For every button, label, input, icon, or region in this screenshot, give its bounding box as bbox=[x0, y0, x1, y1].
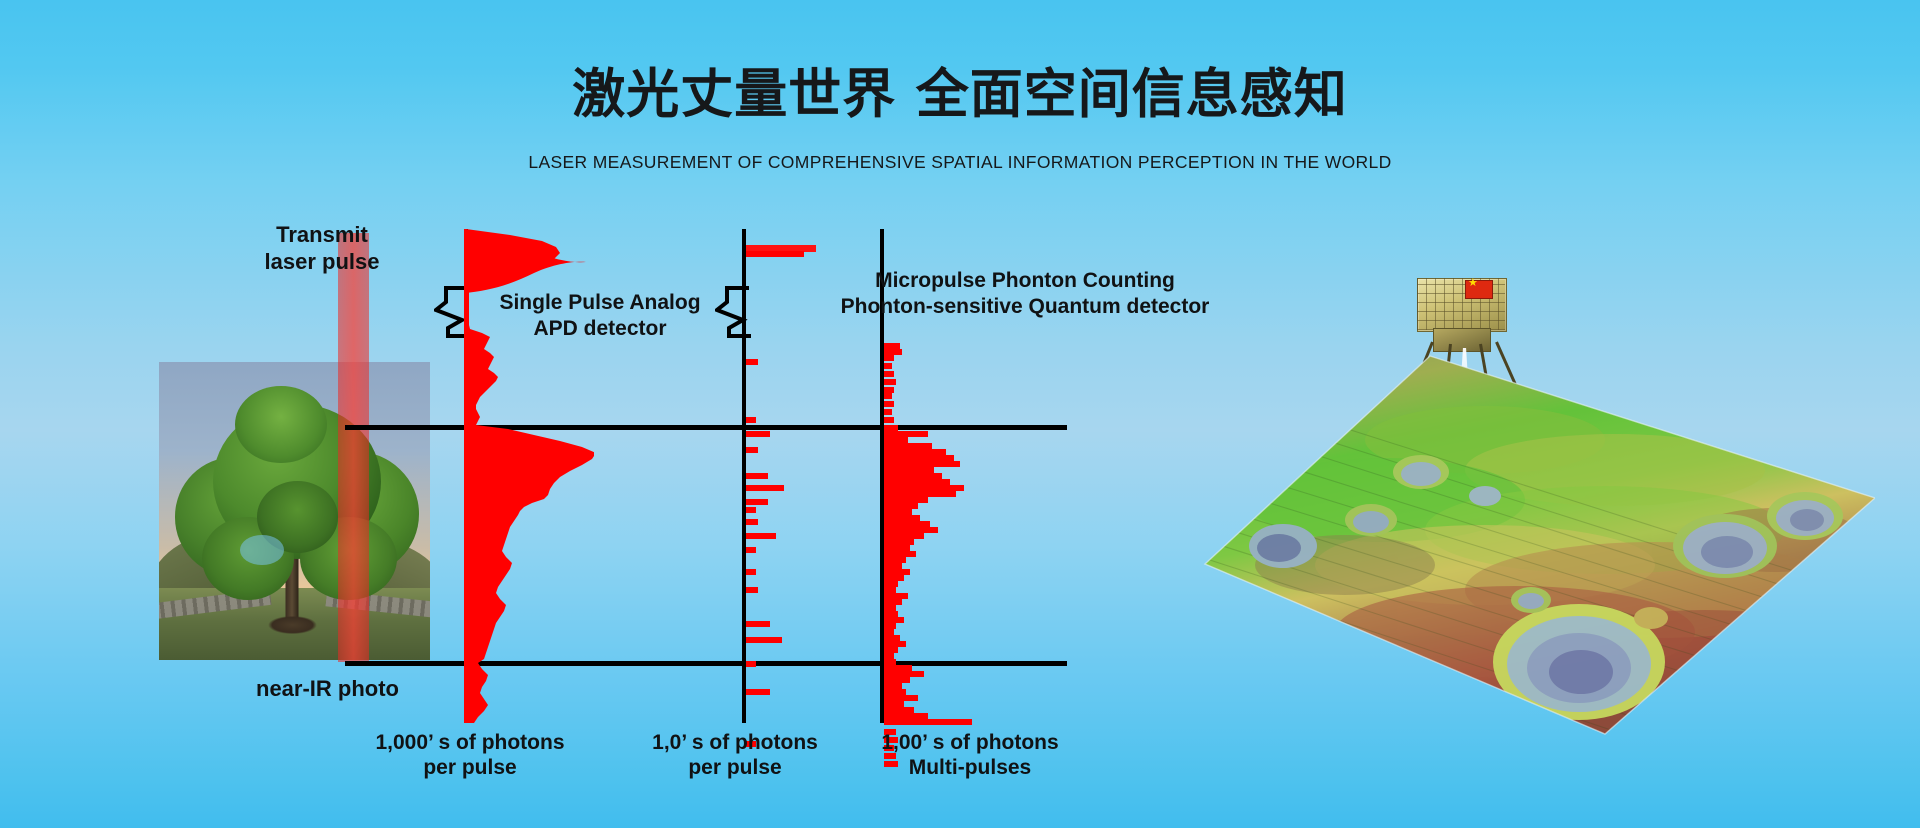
photon-return-bar bbox=[746, 637, 782, 643]
photon-return-bar bbox=[884, 355, 894, 361]
laser-beam-band bbox=[338, 233, 369, 662]
photo-sky-gap bbox=[240, 535, 283, 565]
crater bbox=[1469, 486, 1501, 506]
photon-return-bar bbox=[746, 417, 756, 423]
colorized-dem-surface bbox=[1185, 350, 1875, 740]
photon-return-bar bbox=[884, 393, 892, 399]
crater bbox=[1673, 514, 1777, 578]
caption-photons-micropulse: 1,00’ s of photons Multi-pulses bbox=[850, 730, 1090, 780]
photon-return-bar bbox=[746, 507, 756, 513]
near-ir-photo bbox=[159, 362, 430, 660]
caption3-line2: Multi-pulses bbox=[850, 755, 1090, 780]
caption-photons-single: 1,0’ s of photons per pulse bbox=[620, 730, 850, 780]
photon-return-bar bbox=[884, 363, 892, 369]
label-single-line2: APD detector bbox=[430, 316, 770, 342]
label-transmit-line1: Transmit bbox=[222, 222, 422, 249]
page-title: 激光丈量世界 全面空间信息感知 bbox=[0, 52, 1920, 128]
photon-return-bar bbox=[746, 359, 758, 365]
caption2-line1: 1,0’ s of photons bbox=[620, 730, 850, 755]
caption2-line2: per pulse bbox=[620, 755, 850, 780]
photo-tree-canopy bbox=[235, 386, 327, 463]
photon-return-bar bbox=[746, 533, 776, 539]
crater bbox=[1249, 524, 1317, 568]
photon-return-bar bbox=[884, 417, 894, 423]
label-single-line1: Single Pulse Analog bbox=[430, 290, 770, 316]
label-near-ir-photo: near-IR photo bbox=[215, 676, 440, 703]
photon-return-bar bbox=[746, 473, 768, 479]
photon-return-bar bbox=[746, 547, 756, 553]
photon-return-bar bbox=[884, 371, 894, 377]
photon-return-bar bbox=[746, 689, 770, 695]
crater bbox=[1345, 504, 1397, 536]
photon-return-bar bbox=[746, 485, 784, 491]
transmit-pulse-glyph bbox=[464, 229, 594, 295]
crater bbox=[1767, 492, 1843, 540]
china-flag-icon bbox=[1465, 280, 1493, 299]
photon-return-bar bbox=[746, 519, 758, 525]
caption3-line1: 1,00’ s of photons bbox=[850, 730, 1090, 755]
photon-return-bar bbox=[746, 587, 758, 593]
photon-return-bar bbox=[746, 569, 756, 575]
crater bbox=[1393, 455, 1449, 489]
crater bbox=[1634, 607, 1668, 629]
photon-return-bar bbox=[884, 719, 972, 725]
photon-return-bar bbox=[746, 621, 770, 627]
photon-return-bar bbox=[884, 409, 892, 415]
photon-return-bar bbox=[746, 447, 758, 453]
label-transmit-line2: laser pulse bbox=[222, 249, 422, 276]
crater bbox=[1511, 587, 1551, 613]
poster-canvas: 激光丈量世界 全面空间信息感知 LASER MEASUREMENT OF COM… bbox=[0, 0, 1920, 828]
photon-return-bar bbox=[884, 379, 896, 385]
photon-return-bar bbox=[746, 661, 756, 667]
photon-return-bar bbox=[884, 401, 894, 407]
label-single-pulse-analog: Single Pulse Analog APD detector bbox=[430, 290, 770, 341]
caption1-line1: 1,000’ s of photons bbox=[340, 730, 600, 755]
label-transmit-laser-pulse: Transmit laser pulse bbox=[222, 222, 422, 276]
photon-return-bar bbox=[746, 251, 804, 257]
page-subtitle: LASER MEASUREMENT OF COMPREHENSIVE SPATI… bbox=[0, 152, 1920, 173]
photon-return-bar bbox=[746, 431, 770, 437]
caption-photons-analog: 1,000’ s of photons per pulse bbox=[340, 730, 600, 780]
caption1-line2: per pulse bbox=[340, 755, 600, 780]
lidar-terrain-scene bbox=[1185, 280, 1905, 750]
photon-return-bar bbox=[746, 499, 768, 505]
